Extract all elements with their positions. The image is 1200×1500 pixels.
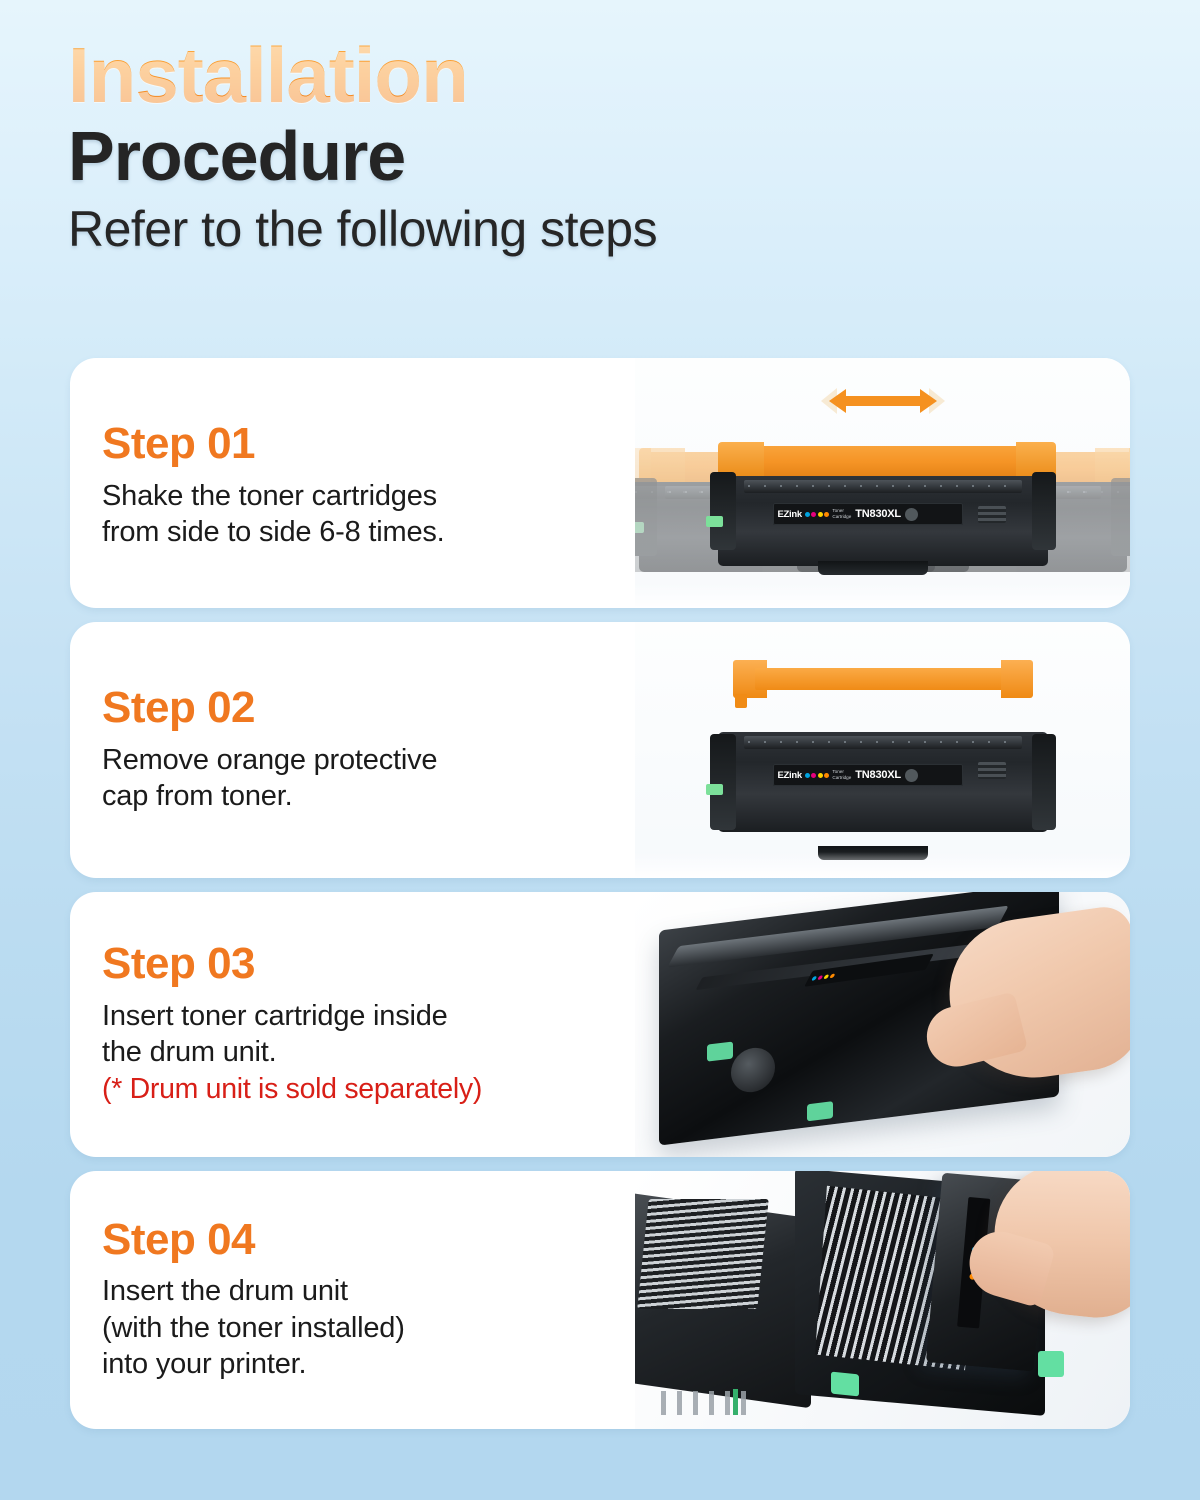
page-title-procedure: Procedure [68, 118, 1200, 195]
shake-double-arrow-icon [813, 384, 953, 418]
step-card-01: Step 01 Shake the toner cartridges from … [70, 358, 1130, 608]
brand-text: EZink [778, 770, 802, 781]
step-03-label: Step 03 [102, 941, 635, 987]
toner-shake-stack: EZink Toner Cartridge TN830XL [663, 446, 1103, 566]
toner-body: EZink Toner Cartridge TN830XL [718, 732, 1048, 832]
page-header: Installation Procedure Refer to the foll… [0, 0, 1200, 259]
step-02-label: Step 02 [102, 685, 635, 731]
printer-vent-grille [637, 1199, 769, 1309]
printer-control-panel [661, 1391, 757, 1415]
steps-list: Step 01 Shake the toner cartridges from … [70, 358, 1130, 1429]
model-text: TN830XL [855, 508, 901, 520]
step-card-02: Step 02 Remove orange protective cap fro… [70, 622, 1130, 878]
page-subtitle: Refer to the following steps [68, 201, 1200, 259]
green-latch-icon [831, 1372, 859, 1397]
step-01-description: Shake the toner cartridges from side to … [102, 478, 635, 551]
step-03-text: Step 03 Insert toner cartridge inside th… [70, 892, 635, 1157]
toner-body: EZink Toner Cartridge TN830XL [718, 476, 1048, 566]
toner-label: EZink Toner Cartridge TN830XL [773, 764, 963, 786]
step-02-description: Remove orange protective cap from toner. [102, 742, 635, 815]
green-latch-icon [807, 1101, 833, 1121]
step-01-figure: EZink Toner Cartridge TN830XL [635, 358, 1130, 608]
step-04-figure [635, 1171, 1130, 1429]
drum-gear-icon [731, 1045, 775, 1094]
step-04-description: Insert the drum unit (with the toner ins… [102, 1273, 635, 1383]
registered-mark-icon [905, 769, 918, 782]
green-tab-icon [706, 784, 723, 795]
step-03-description: Insert toner cartridge inside the drum u… [102, 998, 635, 1071]
green-tab-icon [706, 516, 723, 527]
step-02-figure: EZink Toner Cartridge TN830XL [635, 622, 1130, 878]
registered-mark-icon [905, 508, 918, 521]
step-04-text: Step 04 Insert the drum unit (with the t… [70, 1171, 635, 1429]
step-02-text: Step 02 Remove orange protective cap fro… [70, 622, 635, 878]
model-text: TN830XL [855, 769, 901, 781]
cmyk-dots-icon [805, 512, 830, 517]
green-latch-icon [1038, 1351, 1064, 1377]
step-01-label: Step 01 [102, 421, 635, 467]
cmyk-dots-icon [805, 773, 830, 778]
printer-panel-indicator [733, 1389, 738, 1415]
green-latch-icon [707, 1041, 733, 1061]
step-04-label: Step 04 [102, 1217, 635, 1263]
toner-cartridge-uncapped: EZink Toner Cartridge TN830XL [718, 732, 1048, 842]
step-03-figure [635, 892, 1130, 1157]
step-card-04: Step 04 Insert the drum unit (with the t… [70, 1171, 1130, 1429]
toner-cartridge: EZink Toner Cartridge TN830XL [718, 446, 1048, 566]
orange-cap-detached [733, 660, 1033, 698]
step-01-text: Step 01 Shake the toner cartridges from … [70, 358, 635, 608]
toner-cartridge-text: Toner Cartridge [832, 508, 851, 519]
step-card-03: Step 03 Insert toner cartridge inside th… [70, 892, 1130, 1157]
step-03-note: (* Drum unit is sold separately) [102, 1072, 635, 1108]
page-title-installation: Installation [68, 38, 468, 112]
toner-cartridge-text: Toner Cartridge [832, 769, 851, 780]
toner-label: EZink Toner Cartridge TN830XL [773, 503, 963, 525]
brand-text: EZink [778, 509, 802, 520]
